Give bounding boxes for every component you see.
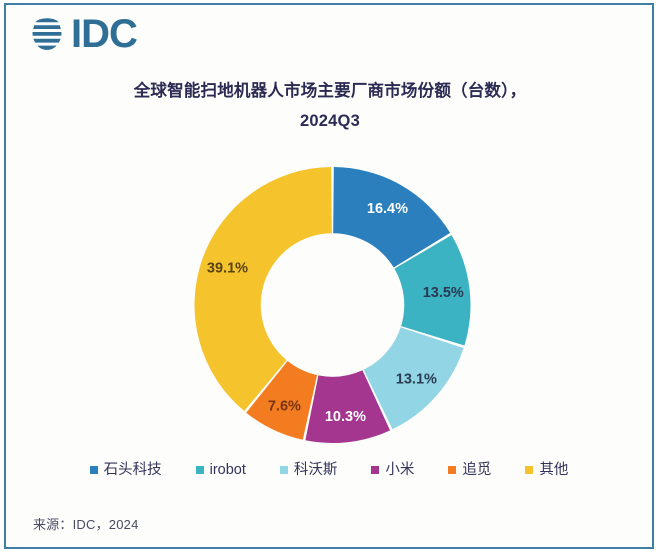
legend-item[interactable]: 科沃斯 <box>280 462 338 478</box>
legend-swatch-icon <box>448 466 456 474</box>
donut-slices <box>195 167 471 443</box>
legend-swatch-icon <box>196 466 204 474</box>
legend-item[interactable]: 石头科技 <box>90 462 162 478</box>
source-note: 来源：IDC，2024 <box>33 514 139 533</box>
donut-slice-label: 39.1% <box>207 261 248 277</box>
donut-slice-label: 7.6% <box>268 399 301 415</box>
legend-item[interactable]: irobot <box>196 462 246 478</box>
legend-item[interactable]: 其他 <box>525 462 568 478</box>
legend-swatch-icon <box>280 466 288 474</box>
legend-item[interactable]: 小米 <box>371 462 414 478</box>
chart-canvas: IDC 全球智能扫地机器人市场主要厂商市场份额（台数）， 2024Q3 16.4… <box>0 0 660 555</box>
donut-slice-label: 10.3% <box>325 409 366 425</box>
legend-item-label: 追觅 <box>462 462 491 478</box>
donut-slice-label: 13.5% <box>423 285 464 301</box>
chart-title-line-1: 全球智能扫地机器人市场主要厂商市场份额（台数）， <box>70 76 590 106</box>
legend-item[interactable]: 追觅 <box>448 462 491 478</box>
chart-title-line-2: 2024Q3 <box>70 106 590 136</box>
chart-legend: 石头科技irobot科沃斯小米追觅其他 <box>28 462 630 478</box>
idc-wordmark: IDC <box>71 14 137 54</box>
idc-logo: IDC <box>27 12 157 56</box>
legend-item-label: 石头科技 <box>104 462 162 478</box>
chart-title: 全球智能扫地机器人市场主要厂商市场份额（台数）， 2024Q3 <box>70 76 590 136</box>
legend-swatch-icon <box>90 466 98 474</box>
legend-item-label: 科沃斯 <box>294 462 338 478</box>
donut-slice-label: 13.1% <box>396 371 437 387</box>
legend-item-label: 其他 <box>539 462 568 478</box>
donut-slice-label: 16.4% <box>367 201 408 217</box>
idc-globe-icon <box>27 14 67 54</box>
legend-item-label: irobot <box>210 462 246 478</box>
donut-chart-svg: 16.4%13.5%13.1%10.3%7.6%39.1% <box>190 160 475 450</box>
donut-chart: 16.4%13.5%13.1%10.3%7.6%39.1% <box>190 160 475 450</box>
legend-swatch-icon <box>525 466 533 474</box>
legend-item-label: 小米 <box>385 462 414 478</box>
legend-swatch-icon <box>371 466 379 474</box>
